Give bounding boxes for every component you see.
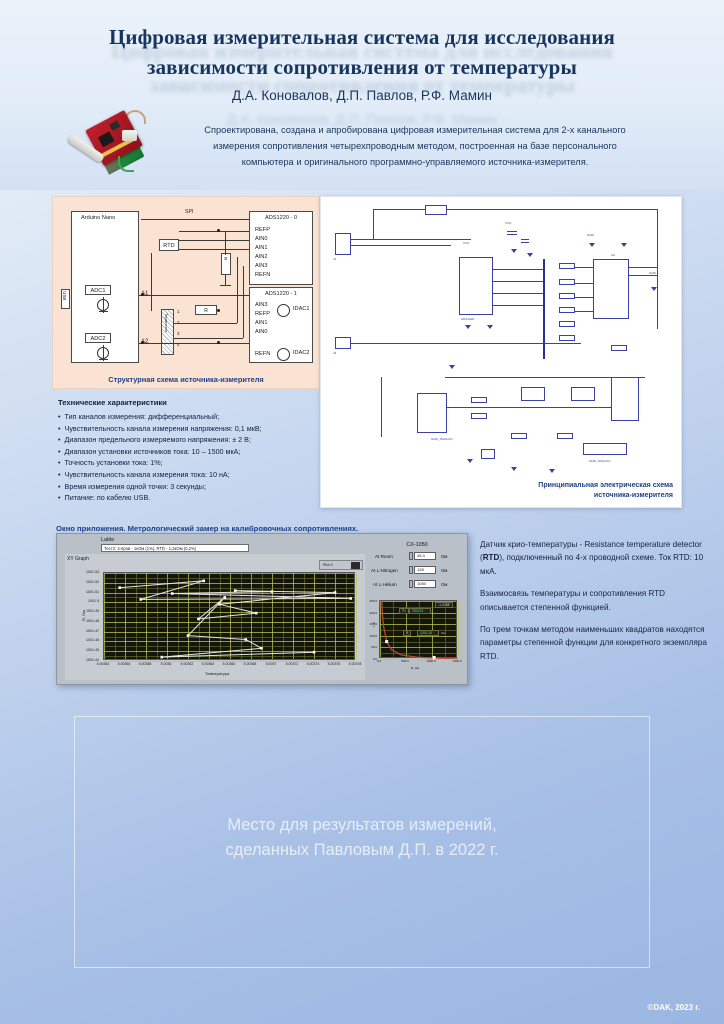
ic-lower-2 [611,377,639,421]
wire-term2 [174,323,237,324]
y-axis-tick: 1001.45 [65,648,99,652]
ads1220-1-pin-ain0: AIN0 [255,329,267,335]
y-axis-tick: 1001.52 [65,580,99,584]
footer-copyright: ©DAK, 2023 г. [648,1003,700,1012]
pcb-chip2-icon [109,120,120,130]
wire-r2-u2 [575,283,593,284]
ic-ads1220 [459,257,493,315]
ic-u2 [593,259,629,319]
wire-u2-out-2 [629,275,657,276]
xy-graph-container: XY Graph Plot 0 1001.531001.521001.51100… [65,554,365,680]
junction-dot-3 [141,293,144,296]
wire-rtd-ain0 [179,240,249,241]
resistor-r3 [559,293,575,299]
page-title-line1: Цифровая измерительная система для иссле… [52,22,672,52]
cx-spinner-nitrogen[interactable] [409,566,413,574]
spec-item: Чувствительность канала измерения тока: … [58,469,326,481]
y-axis-tick: 1001.46 [65,638,99,642]
spi-bus-line [141,219,249,220]
rtd-abbr: RTD [483,553,500,562]
rtd-plot-xlabel: R, Ом [411,666,419,670]
cx-input-room[interactable]: 45.3 [414,552,436,560]
wire-j1-a [351,239,471,240]
resistor-r9 [471,413,487,419]
gnd-symbol-7 [621,243,627,247]
connector-j1 [335,233,351,255]
rtd-description-text: Датчик крио-температуры - Resistance tem… [480,538,710,672]
rtd-y-tick: 200.0 [361,611,377,615]
ads1220-0-pin-ain2: AIN2 [255,254,267,260]
gnd-label-1: GND [587,233,594,237]
usb-plug [122,130,137,141]
cx-1050-title: CX-1050 [369,542,465,548]
placeholder-line-2: сделанных Павловым Д.П. в 2022 г. [75,838,649,863]
wire-rtd-ain1 [179,249,249,250]
junction-dot-2 [217,309,220,312]
ic-lower-1 [417,393,447,433]
idac1-icon [277,304,290,317]
rref-gnd-stem [225,275,226,285]
abstract-line-2: измерения сопротивления четырехпроводным… [150,138,680,154]
tech-specs-heading: Технические характеристики [58,398,326,407]
spec-item: Точность установки тока: 1%; [58,457,326,469]
y-axis-tick: 1001.5 [65,599,99,603]
abstract-line-1: Спроектирована, создана и апробирована ц… [150,122,680,138]
rtd-y-tick: 100.0 [361,634,377,638]
gnd-analog-label-2: GND_ANALOG [589,459,611,463]
gnd-label-2: GND [649,271,656,275]
annotation-exp-value: -1.2458 [435,602,453,608]
green-wire [118,156,134,172]
wire-ic-bus-3 [493,293,543,294]
vcc-label-1: VCC [463,241,470,245]
rtd-paragraph-3: По трем точкам методом наименьших квадра… [480,623,710,663]
wire-r3-u2 [575,297,593,298]
cx-row-label-room: At Room [375,554,393,559]
gnd-symbol-10 [511,467,517,471]
ads1220-1-pin-ain3: AIN3 [255,302,267,308]
gnd-symbol-1 [465,325,471,329]
schematic-caption-line2: источника-измерителя [493,491,673,501]
results-placeholder-box: Место для результатов измерений, сделанн… [74,716,650,968]
y-axis-label: R, Ом [81,610,86,621]
wire-rref-top [225,231,226,255]
wire-ain3-down [243,266,244,338]
wire-term3 [174,338,243,339]
resistor-r8 [471,397,487,403]
rtd-block: RTD [159,239,179,251]
spec-item: Питание: по кабелю USB. [58,492,326,504]
ads1220-0-pin-ain3: AIN3 [255,263,267,269]
block-diagram-canvas: Arduino Nano USB ADC1 ADC2 A1 A2 SPI RTD [61,205,311,366]
opamp1-gnd [99,311,108,312]
ads1220-1-pin-ain1: AIN1 [255,320,267,326]
grid-line-vertical [356,573,357,659]
arduino-device-photo [62,104,158,182]
spec-item: Диапазон установки источников тока: 10 –… [58,446,326,458]
wire-vert-right [657,209,658,329]
gnd-analog-label-1: GND_ANALOG [431,437,453,441]
tech-specs-list: Тип каналов измерения: дифференциальный;… [58,411,326,504]
tech-specs-section: Технические характеристики Тип каналов и… [58,398,326,504]
usb-label: USB [62,291,67,300]
rtd-p1-c: ), подключенный по 4-х проводной схеме. … [480,553,703,575]
annotation-rrtd-label: R [403,630,411,636]
ads1220-0-pin-ain0: AIN0 [255,236,267,242]
authors-line: Д.А. Коновалов, Д.П. Павлов, Р.Ф. Мамин [52,88,672,103]
gnd-symbol-9 [467,459,473,463]
block-diagram-panel: Arduino Nano USB ADC1 ADC2 A1 A2 SPI RTD [52,196,320,389]
rtd-paragraph-2: Взаимосвязь температуры и сопротивления … [480,587,710,614]
connector-j2 [335,337,351,349]
spec-item: Диапазон предельного измеряемого напряже… [58,434,326,446]
opamp2-gnd [99,359,108,360]
spi-label: SPI [185,209,193,215]
application-window[interactable]: Lable Тест2: 4-пров - 1кОм (1%), RTD - 1… [56,533,468,685]
placeholder-line-1: Место для результатов измерений, [75,813,649,838]
resistor-r7 [611,345,627,351]
ic-u2-label: U2 [611,253,615,257]
resistor-r11 [557,433,573,439]
connector-j2-label: J2 [333,351,336,355]
wire-lower-vert [381,377,382,437]
ads1220-1-pin-refn: REFN [255,351,270,357]
pcb-chip-icon [98,131,115,147]
wire-rtd-left [151,253,152,311]
junction-dot-1 [217,229,220,232]
rtd-x-tick: 0.0 [373,659,385,663]
junction-dot-5 [217,341,220,344]
resistor-r10 [511,433,527,439]
vcc-label-2: VCC [505,221,512,225]
gnd-symbol-2 [487,325,493,329]
y-axis-tick: 1001.47 [65,629,99,633]
wire-r4-u2 [575,311,593,312]
cap-c1-plate2 [507,234,517,235]
spec-item: Тип каналов измерения: дифференциальный; [58,411,326,423]
rtd-x-tick: 500.0 [399,659,411,663]
cx-row-label-nitrogen: At L.Nitrogen [371,568,398,573]
terminal-1: 1 [177,309,179,314]
thermostat-label: Термостат [164,313,169,332]
gnd-symbol-6 [589,243,595,247]
spec-item: Время измерения одной точки: 3 секунды; [58,481,326,493]
component-block-3 [481,449,495,459]
terminal-3: 3 [177,331,179,336]
x-axis-tick: 5.00378 [343,662,367,666]
wire-ic-bus-2 [493,281,543,282]
ads1220-0-pin-ain1: AIN1 [255,245,267,251]
wire-a2 [139,343,249,344]
cx-unit-nitrogen: Ом [441,568,447,573]
cx-spinner-helium[interactable] [409,580,413,588]
block-diagram-caption: Структурная схема источника-измерителя [53,375,319,384]
y-axis-tick: 1001.53 [65,570,99,574]
schematic-panel: J1 J2 ADS1220 U2 [320,196,682,508]
ic-ads1220-label: ADS1220 [461,317,474,321]
mini-grid-horizontal [380,659,456,660]
wire-u2-out-1 [629,267,657,268]
annotation-t-value[interactable]: 250213 [409,608,431,614]
idac2-label: IDAC2 [293,350,309,356]
cx-input-nitrogen[interactable]: 128 [414,566,436,574]
annotation-rrtd-value[interactable]: 1201.29 [417,630,439,636]
poster-root: Цифровая измерительная система для иссле… [0,0,724,1024]
cx-unit-helium: Ом [441,582,447,587]
plot-legend-label: Plot 0 [323,563,333,567]
component-block-1 [521,387,545,401]
xy-plot-area[interactable] [103,572,355,660]
resistor-r5 [559,321,575,327]
xy-graph-title: XY Graph [67,556,89,562]
page-title-line2: зависимости сопротивления от температуры [52,52,672,82]
adc1-block: ADC1 [85,285,111,295]
arduino-nano-label: Arduino Nano [81,215,115,221]
ads1220-1-title: ADS1220 - 1 [265,291,297,297]
junction-dot-4 [141,341,144,344]
spec-item: Чувствительность канала измерения напряж… [58,423,326,435]
idac1-label: IDAC1 [293,306,309,312]
component-block-2 [571,387,595,401]
rtd-y-tick: 50.0 [361,645,377,649]
ads1220-0-pin-refp: REFP [255,227,270,233]
schematic-caption: Принципиальная электрическая схема источ… [493,481,673,501]
cx-unit-room: Ом [441,554,447,559]
x-axis-label: Температура [205,671,229,676]
wire-ic-bus-4 [493,305,543,306]
resistor-r2 [559,279,575,285]
connector-j1-label: J1 [333,257,336,261]
rtd-paragraph-1: Датчик крио-температуры - Resistance tem… [480,538,710,578]
y-axis-tick: 1001.51 [65,590,99,594]
wire-r1-u2 [575,267,593,268]
rtd-x-tick: 1500.0 [451,659,463,663]
cap-c2-plate1 [521,239,529,240]
idac2-icon [277,348,290,361]
abstract-line-3: компьютера и оригинального программно-уп… [150,154,680,170]
resistor-r4 [559,307,575,313]
cap-c1-plate1 [507,231,517,232]
placeholder-text: Место для результатов измерений, сделанн… [75,813,649,863]
annotation-t-label: T= [399,608,409,614]
plot-style-icon[interactable] [351,562,360,569]
gnd-symbol-5 [527,253,533,257]
wire-j1-b [351,245,451,246]
rx-block: R [195,305,217,315]
cx-1050-panel: CX-1050 At Room 45.3 Ом At L.Nitrogen 12… [369,538,465,682]
label-field-title: Lable [101,537,114,543]
ads1220-1-pin-refp: REFP [255,311,270,317]
wire-ain2-down [237,257,238,323]
abstract-text: Спроектирована, создана и апробирована ц… [150,122,680,170]
poster-header: Цифровая измерительная система для иссле… [0,0,724,190]
voltage-regulator [425,205,447,215]
component-block-4 [583,443,627,455]
cap-c2-plate2 [521,242,529,243]
wire-lower-2 [445,407,625,408]
signal-bus [543,259,545,359]
title-block: Цифровая измерительная система для иссле… [52,22,672,103]
adc2-block: ADC2 [85,333,111,343]
annotation-rrtd-unit: Ом [441,631,445,635]
resistor-r6 [559,335,575,341]
cx-row-label-helium: At L.Helium [373,582,397,587]
gnd-symbol-3 [449,365,455,369]
wire-vert-1 [373,209,374,239]
ads1220-0-title: ADS1220 - 0 [265,215,297,221]
wire-reg-in [373,209,425,210]
gnd-symbol-4 [511,249,517,253]
mini-grid-vertical [458,601,459,657]
rref-gnd-bar [220,285,231,286]
label-text-input[interactable]: Тест2: 4-пров - 1кОм (1%), RTD - 1,2кОм … [101,544,249,552]
wire-rtd-refp [179,231,249,232]
ads1220-0-pin-refn: REFN [255,272,270,278]
plot-series-trace [104,573,356,661]
wire-reg-out [447,209,657,210]
rtd-x-tick: 1000.0 [425,659,437,663]
rtd-plot-ylabel: T, K [372,622,376,627]
cx-input-helium[interactable]: 1040 [414,580,436,588]
cx-spinner-room[interactable] [409,552,413,560]
rref-label: R [223,257,228,260]
plot-legend[interactable]: Plot 0 [319,560,363,570]
rtd-y-tick: 250.0 [361,599,377,603]
wire-j2-a [351,343,581,344]
resistor-r1 [559,263,575,269]
gnd-symbol-11 [549,469,555,473]
wire-a1 [139,295,249,296]
app-window-caption: Окно приложения. Метрологический замер н… [56,524,358,533]
wire-ic-bus-1 [493,269,543,270]
schematic-caption-line1: Принципиальная электрическая схема [493,481,673,491]
